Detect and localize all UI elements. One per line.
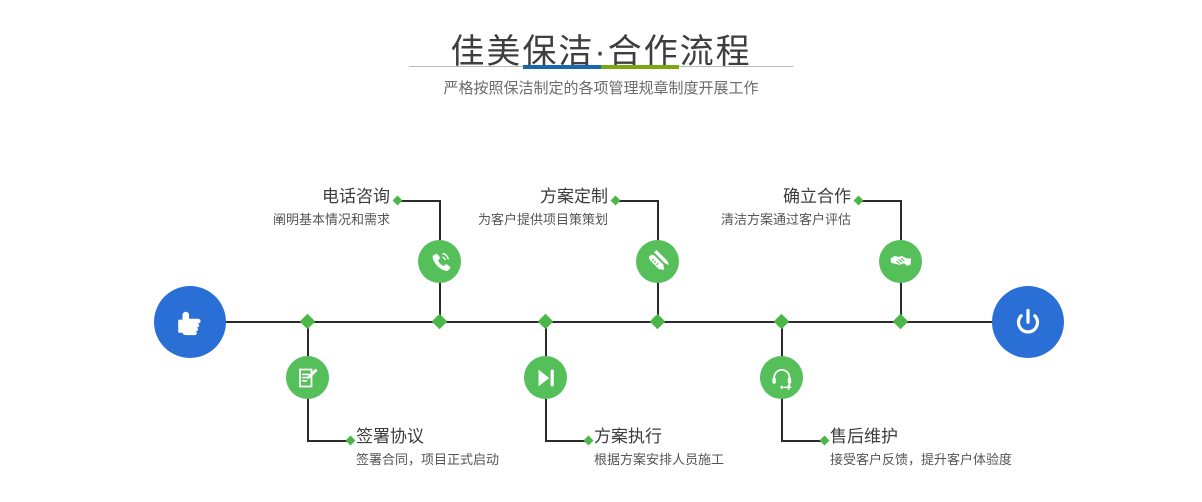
timeline-node-step-3: [650, 314, 666, 330]
headset-support-icon: [769, 365, 795, 391]
process-flow-infographic: 佳美保洁·合作流程 严格按照保洁制定的各项管理规章制度开展工作: [0, 0, 1202, 502]
pointing-hand-icon: [170, 302, 210, 342]
step-icon-3: [636, 240, 679, 283]
timeline-end-node: [992, 286, 1064, 358]
divider-segment-blue: [523, 65, 601, 69]
timeline-node-step-5: [893, 314, 909, 330]
timeline-node-step-4: [538, 314, 554, 330]
play-execute-icon: [533, 365, 559, 391]
power-icon: [1008, 302, 1048, 342]
step-desc-3: 为客户提供项目策策划: [380, 210, 608, 230]
step-icon-2: [286, 356, 329, 399]
divider-segment-green: [601, 65, 679, 69]
phone-call-icon: [427, 249, 453, 275]
timeline-node-step-1: [432, 314, 448, 330]
handshake-icon: [888, 249, 914, 275]
step-desc-6: 接受客户反馈，提升客户体验度: [830, 450, 1160, 470]
branch-line-step-6-horizontal: [781, 440, 824, 442]
step-title-6: 售后维护: [830, 426, 1160, 448]
step-desc-1: 阐明基本情况和需求: [150, 210, 390, 230]
timeline-start-node: [154, 286, 226, 358]
step-title-3: 方案定制: [380, 186, 608, 208]
step-icon-5: [879, 240, 922, 283]
label-marker-step-2: [346, 436, 356, 446]
step-label-1: 电话咨询 阐明基本情况和需求: [150, 186, 390, 230]
document-sign-icon: [295, 365, 321, 391]
label-marker-step-5: [854, 196, 864, 206]
step-label-6: 售后维护 接受客户反馈，提升客户体验度: [830, 426, 1160, 470]
timeline-node-step-2: [300, 314, 316, 330]
step-icon-1: [418, 240, 461, 283]
branch-line-step-2-horizontal: [307, 440, 350, 442]
title-divider: [409, 65, 793, 69]
page-subtitle: 严格按照保洁制定的各项管理规章制度开展工作: [0, 78, 1202, 100]
step-icon-6: [760, 356, 803, 399]
step-title-1: 电话咨询: [150, 186, 390, 208]
label-marker-step-3: [611, 196, 621, 206]
step-label-3: 方案定制 为客户提供项目策策划: [380, 186, 608, 230]
step-label-5: 确立合作 清洁方案通过客户评估: [620, 186, 851, 230]
step-title-5: 确立合作: [620, 186, 851, 208]
branch-line-step-4-horizontal: [545, 440, 588, 442]
pencil-ruler-icon: [645, 249, 671, 275]
step-desc-5: 清洁方案通过客户评估: [620, 210, 851, 230]
branch-line-step-5-horizontal: [859, 200, 902, 202]
timeline-node-step-6: [774, 314, 790, 330]
step-icon-4: [524, 356, 567, 399]
